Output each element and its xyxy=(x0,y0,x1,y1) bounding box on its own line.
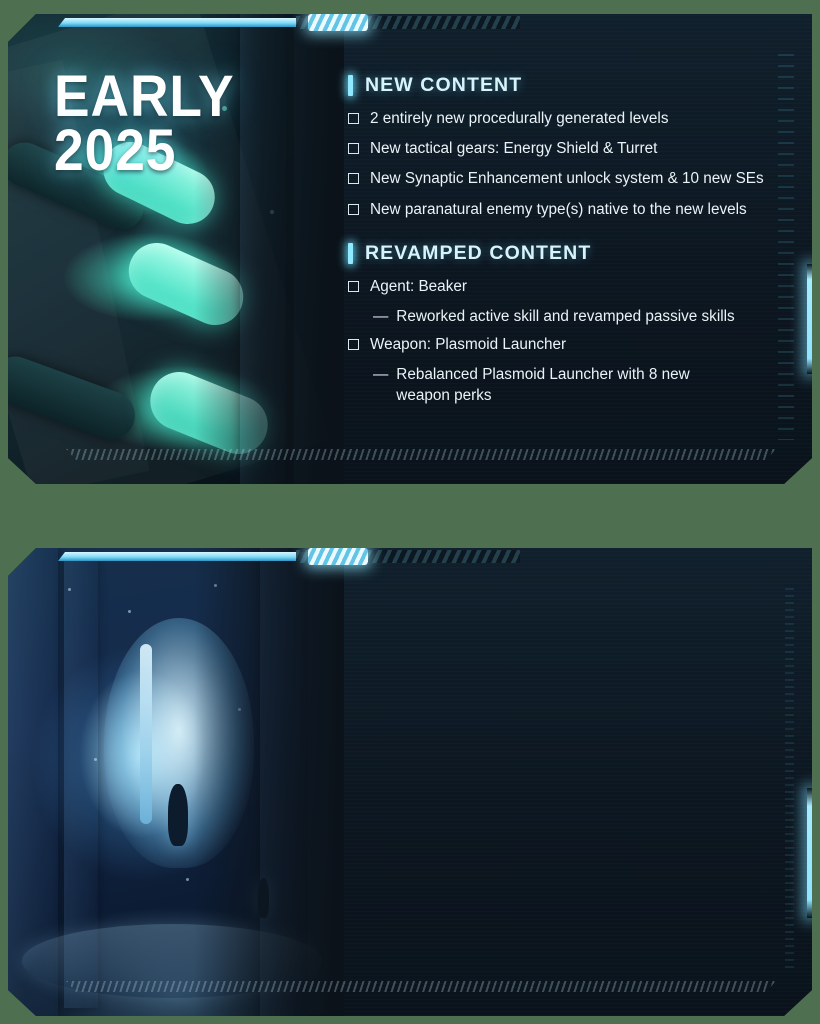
roadmap-board: EARLY 2025 NEW CONTENT 2 entirely new pr… xyxy=(0,0,820,1024)
section-marker-bar-icon xyxy=(348,243,353,264)
roadmap-card-may-2025: MAY 2025 OFFICIAL RELEASE NEW CONTENT Co… xyxy=(8,548,812,1016)
list-item[interactable]: Agent: Beaker xyxy=(348,277,778,297)
list-item-label: Agent: Beaker xyxy=(370,277,467,297)
feature-list-new-content: 2 entirely new procedurally generated le… xyxy=(348,109,778,220)
card-bottom-hatch-early xyxy=(66,449,776,460)
list-subitem: — Rebalanced Plasmoid Launcher with 8 ne… xyxy=(348,365,778,405)
feature-list-revamped-content: Agent: Beaker — Reworked active skill an… xyxy=(348,277,778,406)
section-heading-new-content: NEW CONTENT xyxy=(348,74,778,97)
section-heading-revamped-content: REVAMPED CONTENT xyxy=(348,242,778,265)
list-subitem-label: Rebalanced Plasmoid Launcher with 8 new … xyxy=(396,365,726,405)
list-item[interactable]: 2 entirely new procedurally generated le… xyxy=(348,109,778,129)
checkbox-icon[interactable] xyxy=(348,204,359,215)
section-title: REVAMPED CONTENT xyxy=(365,242,591,265)
list-subitem: — Reworked active skill and revamped pas… xyxy=(348,307,778,327)
ruler-ticks-early xyxy=(778,54,794,440)
checkbox-icon[interactable] xyxy=(348,173,359,184)
list-item-label: 2 entirely new procedurally generated le… xyxy=(370,109,668,129)
ruler-ticks-may xyxy=(785,588,794,972)
right-edge-glow-may xyxy=(807,788,812,918)
list-item-label: New Synaptic Enhancement unlock system &… xyxy=(370,169,764,189)
card-artwork-may xyxy=(8,548,344,1016)
checkbox-icon[interactable] xyxy=(348,281,359,292)
list-item-label: New tactical gears: Energy Shield & Turr… xyxy=(370,139,657,159)
checkbox-icon[interactable] xyxy=(348,143,359,154)
checkbox-icon[interactable] xyxy=(348,113,359,124)
list-item[interactable]: New Synaptic Enhancement unlock system &… xyxy=(348,169,778,189)
section-title: NEW CONTENT xyxy=(365,74,522,97)
title-line-1: EARLY xyxy=(54,70,235,124)
dash-icon: — xyxy=(373,307,388,327)
list-item-label: New paranatural enemy type(s) native to … xyxy=(370,200,747,220)
list-item-label: Weapon: Plasmoid Launcher xyxy=(370,335,566,355)
card-bottom-hatch-may xyxy=(66,981,776,992)
dash-icon: — xyxy=(373,365,388,385)
roadmap-card-early-2025: EARLY 2025 NEW CONTENT 2 entirely new pr… xyxy=(8,14,812,484)
card-panel-may xyxy=(344,548,812,1016)
list-item[interactable]: New paranatural enemy type(s) native to … xyxy=(348,200,778,220)
list-item[interactable]: Weapon: Plasmoid Launcher xyxy=(348,335,778,355)
list-subitem-label: Reworked active skill and revamped passi… xyxy=(396,307,734,327)
section-marker-bar-icon xyxy=(348,75,353,96)
title-line-2: 2025 xyxy=(54,124,235,178)
right-edge-glow-early xyxy=(807,264,812,374)
artwork-fade-may xyxy=(194,548,344,1016)
list-item[interactable]: New tactical gears: Energy Shield & Turr… xyxy=(348,139,778,159)
card-content-early: NEW CONTENT 2 entirely new procedurally … xyxy=(348,74,778,428)
card-title-early: EARLY 2025 xyxy=(54,70,250,178)
checkbox-icon[interactable] xyxy=(348,339,359,350)
